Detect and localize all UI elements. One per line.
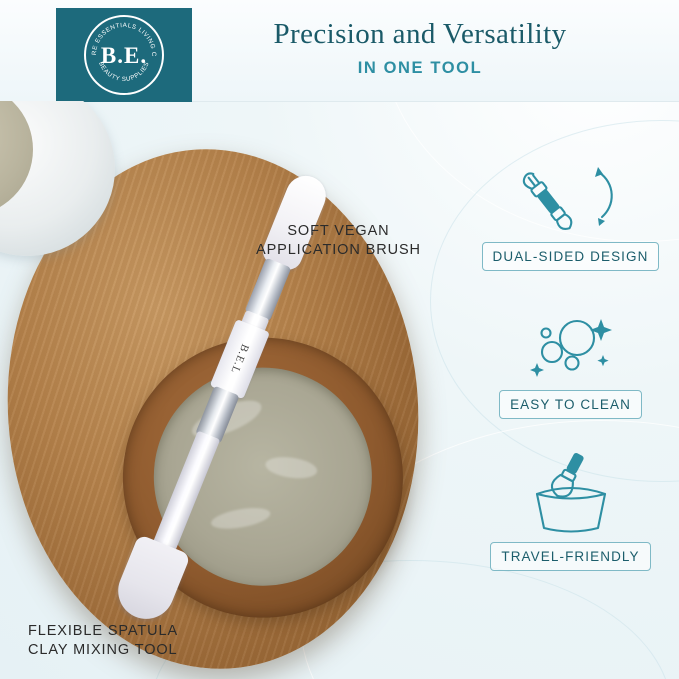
brush-brand-text: B.E.L — [228, 342, 251, 375]
product-photo: B.E.L SOFT VEGAN APPLICATION BRUSH — [0, 101, 470, 679]
brush-in-pouch-icon — [462, 450, 679, 542]
brush-callout-line1: SOFT VEGAN — [256, 222, 421, 241]
bubbles-sparkle-icon — [462, 298, 679, 390]
small-bowl-interior — [0, 101, 33, 216]
feature-label-easy-to-clean: EASY TO CLEAN — [499, 390, 642, 419]
title-block: Precision and Versatility IN ONE TOOL — [200, 18, 640, 78]
spatula-callout-line1: FLEXIBLE SPATULA — [28, 622, 178, 641]
spatula-callout-label: FLEXIBLE SPATULA CLAY MIXING TOOL — [28, 622, 178, 660]
page-subtitle: IN ONE TOOL — [200, 59, 640, 78]
feature-label-travel-friendly: TRAVEL-FRIENDLY — [490, 542, 650, 571]
feature-item-dual-sided: DUAL-SIDED DESIGN — [462, 150, 679, 271]
spatula-callout-line2: CLAY MIXING TOOL — [28, 641, 178, 660]
header-banner: BARE ESSENTIALS LIVING CO. BEAUTY SUPPLI… — [0, 0, 679, 102]
feature-item-easy-to-clean: EASY TO CLEAN — [462, 298, 679, 419]
page-title: Precision and Versatility — [200, 18, 640, 51]
logo-circle: BARE ESSENTIALS LIVING CO. BEAUTY SUPPLI… — [84, 15, 164, 95]
promo-image: BARE ESSENTIALS LIVING CO. BEAUTY SUPPLI… — [0, 0, 679, 679]
clay-highlight — [264, 454, 318, 481]
feature-list: DUAL-SIDED DESIGN EASY TO CLEAN — [462, 150, 679, 620]
dual-sided-brush-rotate-icon — [462, 150, 679, 242]
logo-arc-text: BARE ESSENTIALS LIVING CO. BEAUTY SUPPLI… — [86, 17, 162, 93]
brush-callout-label: SOFT VEGAN APPLICATION BRUSH — [256, 222, 421, 260]
brush-callout-line2: APPLICATION BRUSH — [256, 241, 421, 260]
feature-item-travel-friendly: TRAVEL-FRIENDLY — [462, 450, 679, 571]
feature-label-dual-sided: DUAL-SIDED DESIGN — [482, 242, 660, 271]
brand-logo: BARE ESSENTIALS LIVING CO. BEAUTY SUPPLI… — [56, 8, 192, 102]
svg-text:BEAUTY SUPPLIES: BEAUTY SUPPLIES — [97, 61, 151, 83]
svg-text:BARE ESSENTIALS LIVING CO.: BARE ESSENTIALS LIVING CO. — [86, 17, 157, 57]
